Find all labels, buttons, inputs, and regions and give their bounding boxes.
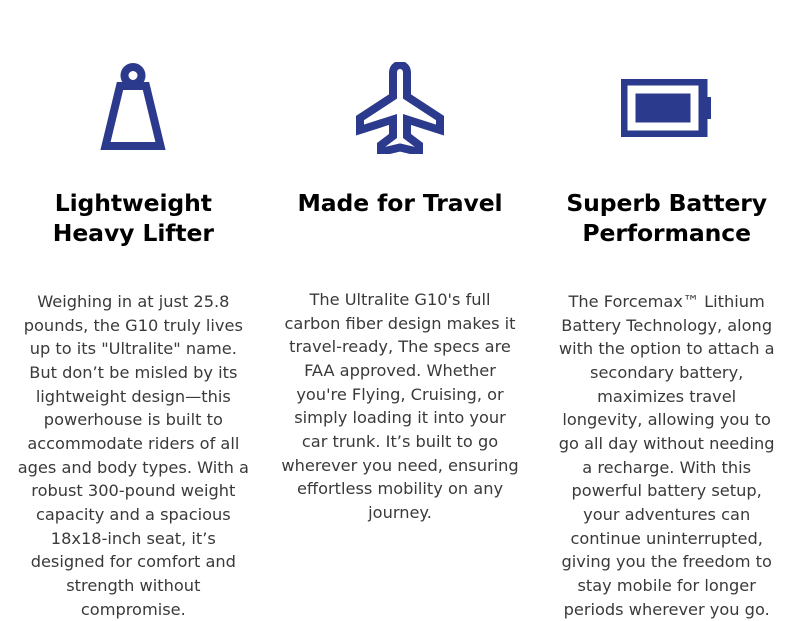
feature-heading: Lightweight Heavy Lifter — [14, 188, 253, 248]
feature-heading: Made for Travel — [293, 188, 506, 218]
battery-icon — [547, 28, 786, 188]
feature-column-lightweight: Lightweight Heavy Lifter Weighing in at … — [0, 0, 267, 621]
feature-heading: Superb Battery Performance — [552, 188, 782, 248]
weight-icon — [14, 28, 253, 188]
feature-column-travel: Made for Travel The Ultralite G10's full… — [267, 0, 534, 525]
feature-body: The Forcemax™ Lithium Battery Technology… — [559, 290, 775, 621]
feature-body: Weighing in at just 25.8 pounds, the G10… — [17, 290, 249, 621]
feature-column-battery: Superb Battery Performance The Forcemax™… — [533, 0, 800, 621]
feature-columns: Lightweight Heavy Lifter Weighing in at … — [0, 0, 800, 600]
airplane-icon — [281, 28, 520, 188]
feature-body: The Ultralite G10's full carbon fiber de… — [281, 288, 520, 525]
